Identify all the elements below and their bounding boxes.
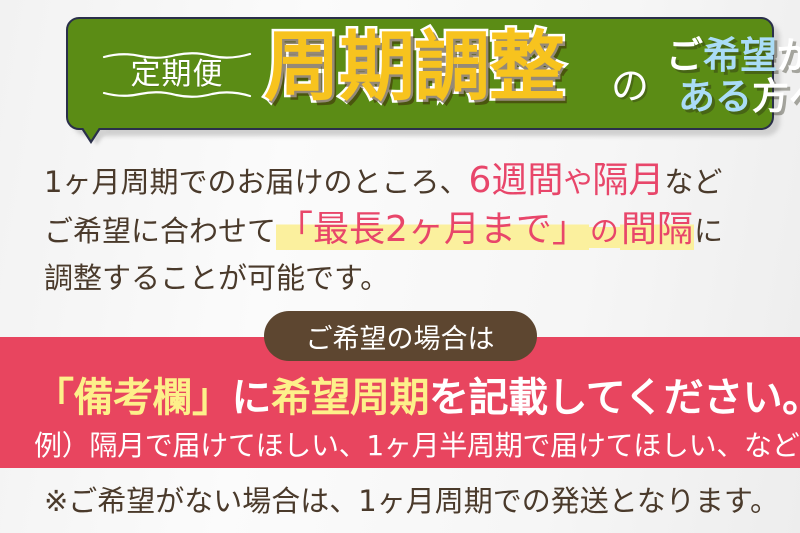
hero-subtitle-seg-4: ある (678, 75, 752, 118)
request-case-pill-label: ご希望の場合は (306, 317, 495, 356)
body-line-2: ご希望に合わせて「最長2ヶ月まで」の間隔に (44, 212, 723, 248)
body-line-1: 1ヶ月周期でのお届けのところ、6週間や隔月など (44, 163, 722, 199)
body-line3-seg-1: 調整することが可能です。 (44, 261, 389, 295)
wavy-rule-bottom-icon (102, 90, 252, 99)
hero-subtitle-seg-1: ご (666, 34, 703, 77)
pink-headline-seg-3: 希望周期 (271, 375, 429, 421)
pink-headline-seg-2: に (232, 375, 272, 421)
hero-particle: の (611, 67, 649, 105)
hero-bubble: 定期便 周期調整 の ご希望が ある方へ (66, 17, 774, 130)
body-paragraph: 1ヶ月周期でのお届けのところ、6週間や隔月など ご希望に合わせて「最長2ヶ月まで… (0, 150, 800, 308)
body-line1-seg-2: 6週間 (468, 160, 563, 201)
hero-subtitle-seg-5: 方へ (752, 75, 800, 118)
footer-note: ※ご希望がない場合は、1ヶ月周期での発送となります。 (44, 478, 779, 520)
subscription-badge: 定期便 (102, 35, 252, 115)
hero-main-title: 周期調整 (264, 29, 564, 105)
body-line2-seg-1: ご希望に合わせて (44, 214, 276, 248)
body-line1-seg-5: など (664, 165, 722, 199)
pill-container: ご希望の場合は (0, 311, 800, 363)
body-line-3: 調整することが可能です。 (44, 263, 389, 294)
hero-subtitle: ご希望が ある方へ (666, 37, 800, 115)
body-line2-highlight-3: 間隔 (620, 209, 694, 250)
hero-subtitle-seg-2: 希望 (703, 34, 777, 77)
promo-banner: 定期便 周期調整 の ご希望が ある方へ (0, 0, 800, 533)
body-line1-seg-4: 隔月 (592, 160, 664, 201)
subscription-badge-label: 定期便 (131, 60, 224, 90)
pink-headline-seg-1: 「備考欄」 (34, 375, 232, 421)
pink-headline-seg-4: を記載してください。 (429, 375, 800, 421)
body-line2-seg-5: に (694, 214, 723, 248)
hero-subtitle-seg-3: が (777, 34, 800, 77)
body-line2-highlight-2: の (589, 214, 620, 248)
body-line1-seg-1: 1ヶ月周期でのお届けのところ、 (44, 165, 468, 199)
hero-header: 定期便 周期調整 の ご希望が ある方へ (0, 0, 800, 150)
request-case-pill: ご希望の場合は (264, 311, 537, 361)
body-line1-seg-3: や (563, 165, 592, 199)
pink-headline: 「備考欄」に希望周期を記載してください。 (34, 365, 800, 423)
pink-example-line: 例）隔月で届けてほしい、1ヶ月半周期で届けてほしい、など (34, 424, 799, 464)
body-line2-highlight-1: 「最長2ヶ月まで」 (276, 209, 589, 250)
speech-tail-fill (80, 123, 102, 140)
